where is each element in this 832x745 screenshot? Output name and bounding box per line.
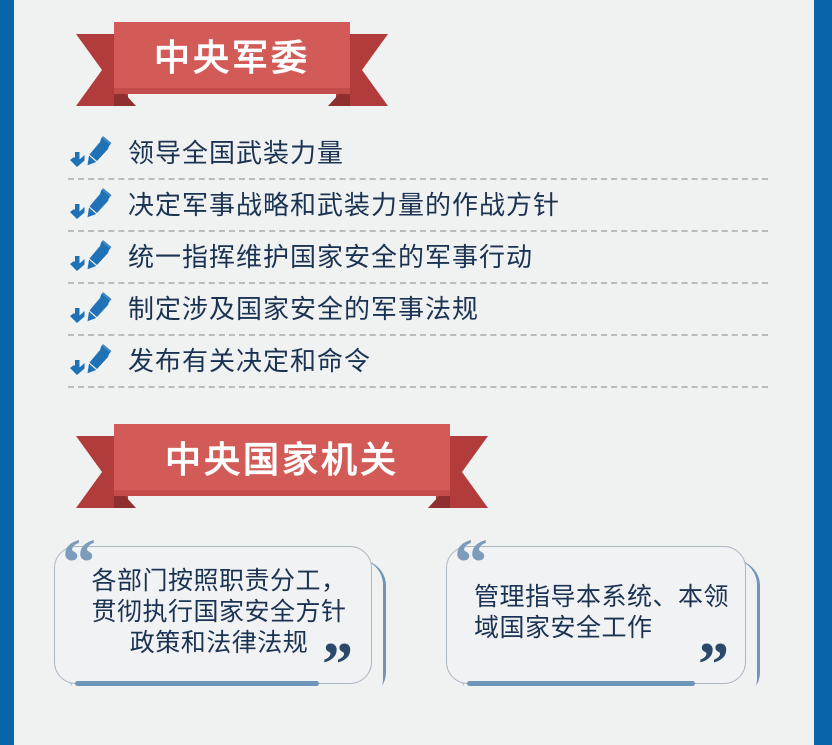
quote-card: “ 管理指导本系统、本领域国家安全工作 ” <box>446 546 746 684</box>
card-underline <box>467 681 695 686</box>
list-item: 制定涉及国家安全的军事法规 <box>68 284 768 336</box>
pencil-icon <box>68 186 114 224</box>
left-accent-rail <box>0 0 14 745</box>
ribbon-body-shade <box>114 88 350 94</box>
quote-card: “ 各部门按照职责分工，贯彻执行国家安全方针政策和法律法规 ” <box>54 546 372 684</box>
quote-card-group: “ 各部门按照职责分工，贯彻执行国家安全方针政策和法律法规 ” “ 管理指导本系… <box>54 546 784 706</box>
list-item: 发布有关决定和命令 <box>68 336 768 388</box>
list-item-label: 统一指挥维护国家安全的军事行动 <box>128 244 533 270</box>
section-banner-central-state-organs: 中央国家机关 <box>76 424 488 496</box>
list-item: 决定军事战略和武装力量的作战方针 <box>68 180 768 232</box>
quote-open-icon: “ <box>62 528 96 596</box>
section-banner-central-military-commission: 中央军委 <box>76 22 388 94</box>
list-item: 领导全国武装力量 <box>68 128 768 180</box>
ribbon-body: 中央国家机关 <box>114 424 450 496</box>
list-item-label: 决定军事战略和武装力量的作战方针 <box>128 192 560 218</box>
quote-card-text: 管理指导本系统、本领域国家安全工作 <box>474 582 730 644</box>
quote-close-icon: ” <box>698 634 729 696</box>
pencil-icon <box>68 238 114 276</box>
pencil-icon <box>68 134 114 172</box>
infographic-canvas: 中央军委 领导全国武装力量 <box>14 0 814 745</box>
pencil-icon <box>68 342 114 380</box>
ribbon-body-shade <box>114 490 450 496</box>
quote-close-icon: ” <box>322 634 353 696</box>
banner-title: 中央军委 <box>154 40 310 76</box>
duties-list: 领导全国武装力量 决定军事战略和武装力量的作战方针 <box>68 128 768 388</box>
quote-card-text: 各部门按照职责分工，贯彻执行国家安全方针政策和法律法规 <box>90 566 348 659</box>
list-item-label: 发布有关决定和命令 <box>128 348 371 374</box>
list-item-label: 制定涉及国家安全的军事法规 <box>128 296 479 322</box>
right-accent-rail <box>814 0 832 745</box>
list-item: 统一指挥维护国家安全的军事行动 <box>68 232 768 284</box>
pencil-icon <box>68 290 114 328</box>
card-underline <box>75 681 319 686</box>
list-item-label: 领导全国武装力量 <box>128 140 344 166</box>
quote-open-icon: “ <box>454 528 488 596</box>
ribbon-body: 中央军委 <box>114 22 350 94</box>
banner-title: 中央国家机关 <box>165 442 399 478</box>
